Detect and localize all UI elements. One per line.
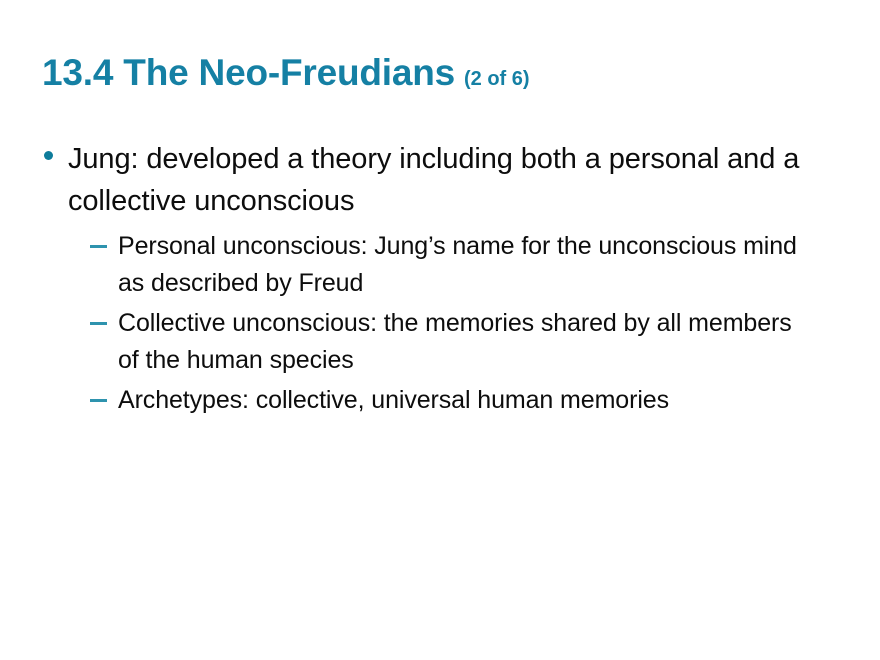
bullet-dash-icon: [90, 322, 107, 325]
level2-bullet-text: Personal unconscious: Jung’s name for th…: [118, 232, 797, 297]
bullet-dot-icon: [44, 151, 53, 160]
page-title: 13.4 The Neo-Freudians: [42, 52, 455, 93]
list-item: Archetypes: collective, universal human …: [0, 382, 880, 419]
slide-title: 13.4 The Neo-Freudians(2 of 6): [42, 52, 842, 94]
list-item: Jung: developed a theory including both …: [0, 138, 880, 222]
level2-bullet-text: Collective unconscious: the memories sha…: [118, 309, 792, 374]
list-item: Personal unconscious: Jung’s name for th…: [0, 228, 880, 302]
slide-body: Jung: developed a theory including both …: [0, 138, 880, 422]
bullet-dash-icon: [90, 399, 107, 402]
bullet-dash-icon: [90, 245, 107, 248]
sub-bullet-list: Personal unconscious: Jung’s name for th…: [0, 228, 880, 419]
list-item: Collective unconscious: the memories sha…: [0, 305, 880, 379]
title-slide-count: (2 of 6): [464, 68, 530, 90]
slide-canvas: 13.4 The Neo-Freudians(2 of 6) Jung: dev…: [0, 0, 880, 660]
level1-bullet-text: Jung: developed a theory including both …: [68, 143, 799, 217]
level2-bullet-text: Archetypes: collective, universal human …: [118, 386, 669, 414]
